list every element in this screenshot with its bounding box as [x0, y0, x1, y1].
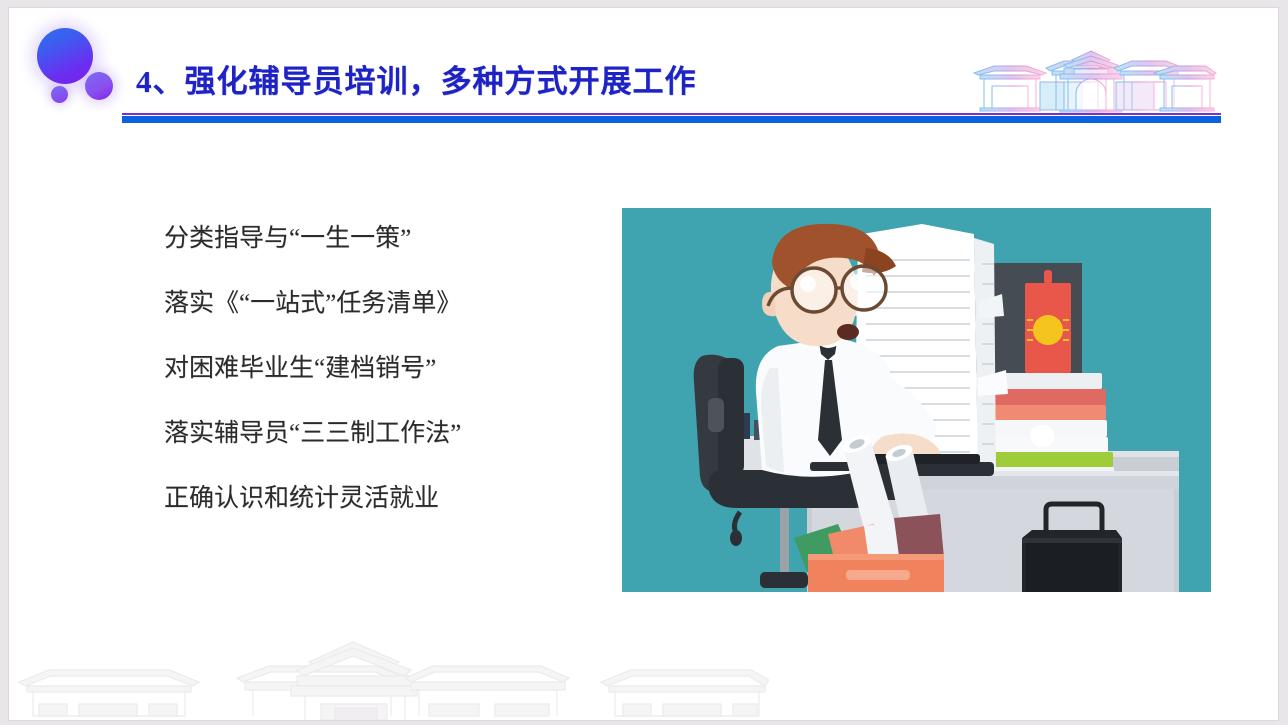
bubble-large-icon	[37, 28, 93, 84]
slide-title: 4、强化辅导员培训，多种方式开展工作	[136, 56, 697, 101]
body-line: 正确认识和统计灵活就业	[164, 486, 584, 511]
body-line: 对困难毕业生“建档销号”	[164, 356, 584, 381]
bubble-medium-icon	[85, 72, 113, 100]
title-rule-blue	[122, 116, 1221, 123]
decorative-bubble-cluster	[23, 20, 133, 120]
slide-page: 4、强化辅导员培训，多种方式开展工作	[9, 8, 1278, 720]
body-line: 落实《“一站式”任务清单》	[164, 291, 584, 316]
body-line: 分类指导与“一生一策”	[164, 226, 584, 251]
illustration-office-worker	[622, 208, 1211, 592]
archway-gate-icon	[964, 48, 1219, 114]
body-text-block: 分类指导与“一生一策” 落实《“一站式”任务清单》 对困难毕业生“建档销号” 落…	[164, 226, 584, 511]
slide-frame: 4、强化辅导员培训，多种方式开展工作	[0, 0, 1288, 725]
bubble-small-icon	[51, 86, 68, 103]
body-line: 落实辅导员“三三制工作法”	[164, 421, 584, 446]
archway-watermark-icon	[9, 620, 769, 720]
